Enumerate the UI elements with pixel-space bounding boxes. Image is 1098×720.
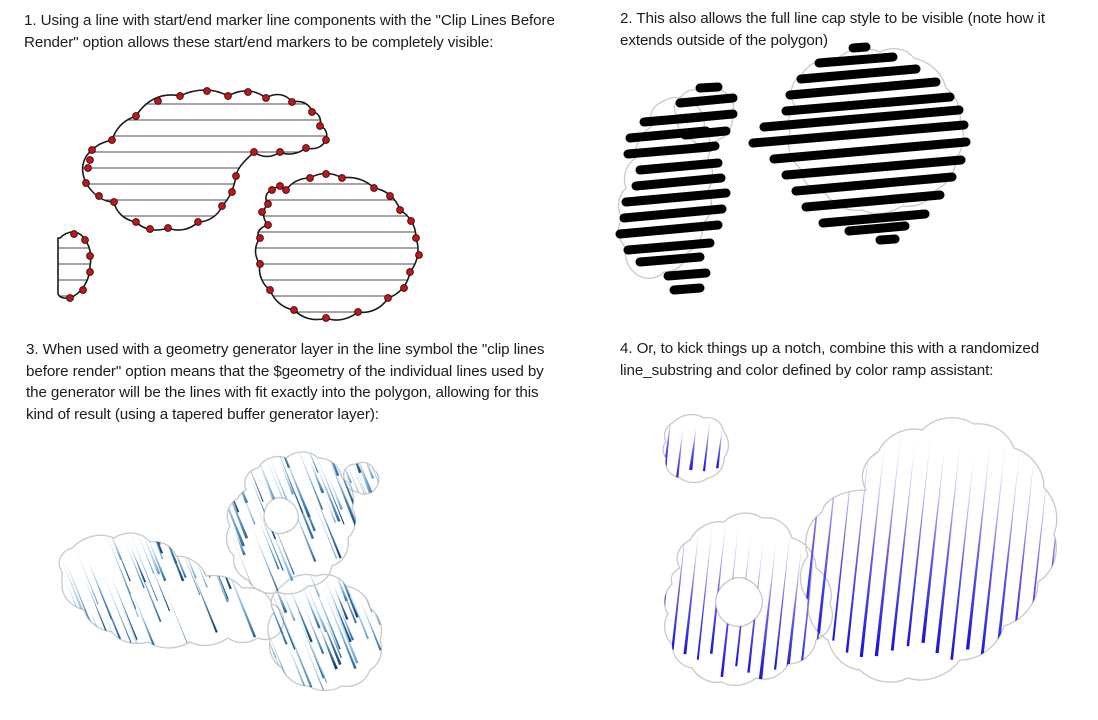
tapered-stroke	[205, 498, 229, 556]
ramp-stroke	[966, 427, 993, 650]
tapered-stroke	[40, 588, 53, 619]
tapered-stroke	[132, 522, 154, 574]
tapered-stroke	[252, 495, 284, 571]
tapered-stroke	[245, 530, 277, 605]
tapered-stroke	[293, 438, 323, 510]
ramp-stroke	[846, 415, 873, 653]
tapered-stroke	[150, 501, 177, 564]
tapered-stroke	[104, 520, 122, 560]
ramp-stroke	[735, 521, 752, 666]
ramp-stroke	[774, 518, 792, 670]
tapered-stroke	[268, 455, 296, 521]
tapered-stroke	[388, 594, 412, 650]
tapered-stroke	[183, 511, 211, 578]
tapered-stroke	[89, 609, 102, 638]
tapered-stroke	[254, 492, 284, 560]
tapered-stroke	[305, 563, 320, 596]
tapered-stroke	[263, 502, 277, 531]
panel1-shape-large	[0, 88, 620, 312]
tapered-stroke	[274, 432, 290, 468]
ramp-stroke	[689, 423, 697, 471]
tapered-stroke	[220, 554, 256, 638]
tapered-stroke	[267, 631, 304, 718]
ramp-stroke	[710, 509, 728, 654]
tapered-stroke	[356, 440, 374, 479]
tapered-stroke	[141, 504, 163, 554]
tapered-stroke	[262, 449, 295, 526]
tapered-stroke	[257, 521, 285, 589]
tapered-stroke	[279, 584, 296, 621]
tapered-stroke	[85, 581, 109, 637]
tapered-stroke	[257, 517, 280, 570]
ramp-stroke	[683, 519, 700, 654]
tapered-stroke	[202, 485, 237, 568]
tapered-stroke	[289, 587, 313, 642]
tapered-stroke	[49, 599, 61, 627]
tapered-stroke	[315, 496, 342, 559]
tapered-stroke	[15, 571, 45, 640]
tapered-stroke	[266, 595, 283, 635]
panel4-ramp-hatch-donut	[656, 504, 831, 687]
tapered-stroke	[176, 531, 196, 578]
tapered-stroke	[65, 598, 94, 665]
tapered-stroke	[335, 573, 349, 601]
tapered-stroke	[196, 497, 233, 584]
tapered-stroke	[263, 500, 294, 575]
ramp-stroke	[721, 516, 741, 678]
tapered-stroke	[93, 574, 121, 639]
tapered-stroke	[209, 459, 221, 485]
tapered-stroke	[252, 510, 265, 539]
tapered-stroke	[363, 583, 381, 625]
tapered-stroke	[372, 462, 385, 488]
tapered-stroke	[352, 460, 388, 546]
tapered-stroke	[261, 584, 287, 645]
panel1-shape-round	[0, 104, 620, 321]
tapered-stroke	[126, 538, 161, 622]
tapered-stroke	[322, 587, 357, 669]
tapered-stroke	[305, 565, 341, 649]
tapered-stroke	[254, 528, 286, 605]
ramp-stroke	[815, 417, 843, 649]
tapered-stroke	[302, 603, 324, 654]
tapered-stroke	[164, 586, 193, 655]
tapered-stroke	[304, 580, 327, 633]
panel3-tapered-hatch-donut	[182, 408, 388, 611]
tapered-stroke	[245, 457, 264, 502]
ramp-stroke	[935, 423, 962, 653]
ramp-stroke	[907, 420, 933, 646]
tapered-stroke	[328, 462, 358, 532]
tapered-stroke	[345, 462, 373, 530]
tapered-stroke	[268, 491, 280, 517]
tapered-stroke	[40, 618, 74, 697]
panel4-ramp-hatch-small	[662, 410, 724, 485]
tapered-stroke	[198, 466, 225, 530]
panel3-outline-donut	[227, 452, 356, 594]
tapered-stroke	[324, 584, 358, 664]
tapered-stroke	[277, 605, 312, 688]
panel-3-caption: 3. When used with a geometry generator l…	[26, 339, 556, 425]
tapered-stroke	[357, 555, 380, 605]
tapered-stroke	[363, 446, 390, 511]
tapered-stroke	[204, 515, 223, 560]
tapered-stroke	[249, 473, 263, 503]
panel-4-randomized-line-substring: 4. Or, to kick things up a notch, combin…	[600, 330, 1098, 720]
panel3-outline-oval	[268, 574, 382, 690]
tapered-stroke	[234, 488, 266, 562]
tapered-stroke	[30, 600, 57, 661]
tapered-stroke	[324, 495, 337, 523]
tapered-stroke	[225, 520, 256, 594]
tapered-stroke	[332, 459, 360, 524]
ramp-stroke	[1040, 436, 1067, 670]
tapered-stroke	[222, 516, 233, 541]
tapered-stroke	[333, 586, 349, 620]
tapered-stroke	[262, 625, 297, 707]
tapered-stroke	[290, 636, 319, 706]
tapered-stroke	[301, 584, 321, 629]
tapered-stroke	[224, 543, 238, 575]
tapered-stroke	[102, 573, 132, 644]
tapered-stroke	[213, 541, 236, 594]
tapered-stroke	[54, 581, 76, 631]
tapered-stroke	[255, 649, 278, 700]
tapered-stroke	[346, 475, 364, 518]
tapered-stroke	[353, 451, 378, 508]
tapered-stroke	[269, 587, 295, 650]
tapered-stroke	[207, 507, 240, 584]
ramp-stroke	[656, 514, 675, 668]
ramp-stroke	[860, 423, 888, 657]
tapered-stroke	[350, 461, 379, 529]
tapered-stroke	[105, 531, 131, 594]
tapered-stroke	[162, 531, 184, 581]
panel4-outline-small	[663, 415, 729, 483]
tapered-stroke	[326, 582, 352, 642]
ramp-stroke	[891, 423, 918, 651]
tapered-stroke	[336, 471, 351, 503]
tapered-stroke	[128, 529, 158, 601]
ramp-stroke	[814, 530, 830, 664]
tapered-stroke	[70, 573, 101, 648]
tapered-stroke	[304, 438, 319, 473]
tapered-stroke	[335, 446, 363, 513]
tapered-stroke	[370, 568, 405, 652]
tapered-stroke	[328, 459, 360, 532]
tapered-stroke	[327, 419, 352, 475]
panel3-tapered-hatch-tiny	[323, 436, 408, 554]
tapered-stroke	[251, 643, 282, 715]
ramp-stroke	[995, 435, 1022, 665]
tapered-stroke	[139, 527, 161, 575]
tapered-stroke	[230, 596, 243, 623]
tapered-stroke	[277, 453, 314, 539]
tapered-stroke	[54, 611, 79, 669]
tapered-stroke	[29, 580, 43, 610]
tapered-stroke	[208, 480, 232, 534]
tapered-stroke	[345, 471, 381, 555]
tapered-stroke	[145, 533, 166, 581]
tapered-stroke	[282, 633, 315, 709]
panel3-outline-wide	[59, 533, 283, 648]
panel-4-caption: 4. Or, to kick things up a notch, combin…	[620, 338, 1080, 381]
panel-2-caption: 2. This also allows the full line cap st…	[620, 8, 1090, 51]
tapered-stroke	[178, 543, 200, 595]
tapered-stroke	[369, 445, 396, 507]
ramp-stroke	[785, 531, 804, 677]
tapered-stroke	[262, 507, 294, 581]
tapered-stroke	[62, 554, 94, 631]
tapered-stroke	[79, 618, 102, 672]
panel2-outline-large	[788, 49, 963, 214]
tapered-stroke	[236, 479, 256, 524]
tapered-stroke	[331, 462, 363, 540]
panel2-outline-tall	[619, 98, 713, 279]
tapered-stroke	[352, 537, 381, 603]
tapered-stroke	[151, 565, 170, 611]
ramp-stroke	[759, 531, 778, 681]
tapered-stroke	[270, 524, 290, 568]
tapered-stroke	[286, 461, 316, 531]
tapered-stroke	[250, 520, 276, 579]
tapered-stroke	[334, 560, 359, 617]
tapered-stroke	[216, 464, 248, 539]
tapered-stroke	[348, 446, 361, 474]
tapered-stroke	[337, 566, 351, 596]
panel3-tapered-hatch-oval	[227, 532, 426, 720]
ramp-stroke	[802, 416, 828, 633]
tapered-stroke	[245, 609, 274, 676]
tapered-stroke	[323, 613, 342, 658]
panel-2-line-cap-style: 2. This also allows the full line cap st…	[600, 0, 1098, 330]
tapered-stroke	[232, 527, 245, 555]
tapered-stroke	[131, 549, 146, 583]
ramp-stroke	[1010, 432, 1038, 669]
tapered-stroke	[169, 538, 186, 577]
tapered-stroke	[219, 467, 239, 513]
tapered-stroke	[299, 631, 335, 718]
tapered-stroke	[385, 580, 415, 653]
tapered-stroke	[115, 559, 136, 609]
tapered-stroke	[70, 616, 101, 688]
tapered-stroke	[355, 564, 367, 592]
ramp-stroke	[979, 429, 1007, 667]
tapered-stroke	[102, 610, 122, 657]
tapered-stroke	[276, 455, 294, 494]
tapered-stroke	[316, 621, 338, 670]
tapered-stroke	[312, 456, 340, 521]
ramp-stroke	[716, 424, 723, 469]
tapered-stroke	[58, 554, 88, 622]
ramp-stroke	[1025, 445, 1051, 667]
panel-1-caption: 1. Using a line with start/end marker li…	[24, 10, 564, 53]
panel-3-geometry-generator: 3. When used with a geometry generator l…	[0, 330, 600, 720]
tapered-stroke	[215, 454, 231, 492]
panel2-thick-hatch-large	[753, 47, 966, 240]
tapered-stroke	[213, 472, 245, 547]
tapered-stroke	[279, 445, 311, 517]
tapered-stroke	[131, 591, 155, 646]
tapered-stroke	[325, 471, 343, 510]
tapered-stroke	[332, 564, 357, 623]
tapered-stroke	[202, 463, 218, 500]
ramp-stroke	[950, 436, 976, 660]
tapered-stroke	[210, 540, 232, 589]
tapered-stroke	[199, 500, 228, 571]
tapered-stroke	[64, 579, 89, 637]
tapered-stroke	[251, 526, 279, 591]
tapered-stroke	[121, 574, 139, 617]
tapered-stroke	[176, 502, 207, 575]
tapered-stroke	[374, 563, 389, 598]
tapered-stroke	[250, 477, 276, 539]
tapered-stroke	[189, 566, 217, 633]
ramp-stroke	[747, 528, 765, 673]
vertex-markers-large	[83, 88, 330, 233]
panel-1-clip-lines-markers: 1. Using a line with start/end marker li…	[0, 0, 600, 330]
panel2-thick-hatch-tall	[620, 117, 726, 290]
tapered-stroke	[317, 459, 344, 525]
tapered-stroke	[336, 471, 354, 512]
tapered-stroke	[337, 451, 352, 483]
tapered-stroke	[330, 466, 363, 543]
ramp-stroke	[676, 423, 684, 481]
panel1-shape-fragment	[0, 104, 620, 312]
panel-4-figure	[600, 330, 1098, 720]
ramp-stroke	[875, 420, 903, 656]
tapered-stroke	[317, 609, 342, 665]
tapered-stroke	[112, 578, 138, 640]
tapered-stroke	[33, 564, 70, 649]
tapered-stroke	[248, 618, 269, 666]
ramp-stroke	[671, 512, 688, 650]
tapered-stroke	[179, 490, 215, 575]
vertex-markers-round	[257, 171, 423, 322]
tapered-stroke	[91, 568, 121, 639]
tapered-stroke	[349, 559, 361, 584]
tapered-stroke	[353, 465, 365, 492]
tapered-stroke	[308, 489, 337, 559]
tapered-stroke	[308, 458, 325, 493]
tapered-stroke	[344, 458, 374, 527]
tapered-stroke	[262, 625, 276, 658]
panel3-outline-tiny	[344, 462, 379, 494]
panel2-outline-small	[675, 88, 734, 145]
tapered-stroke	[296, 610, 325, 678]
ramp-stroke	[832, 418, 857, 640]
tapered-stroke	[333, 454, 359, 513]
tapered-stroke	[365, 437, 381, 471]
tapered-stroke	[35, 575, 63, 640]
tapered-stroke	[196, 520, 229, 599]
tapered-stroke	[142, 510, 163, 559]
tapered-stroke	[258, 514, 291, 592]
tapered-stroke	[332, 553, 368, 640]
tapered-stroke	[113, 540, 131, 582]
tapered-stroke	[256, 459, 275, 503]
tapered-stroke	[73, 544, 99, 605]
panel3-tapered-hatch-wide	[9, 461, 310, 711]
panel4-outline-donut	[665, 513, 833, 685]
tapered-stroke	[336, 601, 354, 640]
tapered-stroke	[355, 571, 372, 612]
tapered-stroke	[288, 497, 316, 562]
ramp-stroke	[697, 512, 714, 660]
tapered-stroke	[196, 525, 229, 603]
tapered-stroke	[223, 480, 236, 508]
tapered-stroke	[271, 578, 288, 613]
tapered-stroke	[220, 506, 244, 560]
tapered-stroke	[274, 444, 303, 513]
tapered-stroke	[254, 451, 288, 532]
tapered-stroke	[259, 639, 274, 674]
ramp-stroke	[663, 412, 672, 470]
vertex-markers-fragment	[67, 231, 94, 302]
tapered-stroke	[353, 453, 371, 492]
tapered-stroke	[330, 471, 363, 546]
tapered-stroke	[358, 595, 382, 650]
tapered-stroke	[191, 550, 207, 588]
panel4-ramp-hatch-large	[800, 409, 1067, 676]
tapered-stroke	[124, 540, 145, 589]
tapered-stroke	[88, 562, 112, 620]
panel4-outline-large	[801, 418, 1057, 682]
tapered-stroke	[373, 578, 386, 607]
tapered-stroke	[242, 543, 258, 577]
tapered-stroke	[115, 591, 149, 671]
tapered-stroke	[231, 467, 248, 504]
ramp-stroke	[703, 414, 711, 471]
panel2-thick-hatch-small	[678, 87, 733, 148]
tapered-stroke	[210, 510, 240, 579]
tapered-stroke	[369, 451, 406, 537]
tapered-stroke	[304, 629, 327, 683]
ramp-stroke	[921, 429, 947, 643]
tapered-stroke	[356, 455, 378, 507]
tapered-stroke	[149, 518, 161, 545]
ramp-stroke	[798, 526, 817, 683]
